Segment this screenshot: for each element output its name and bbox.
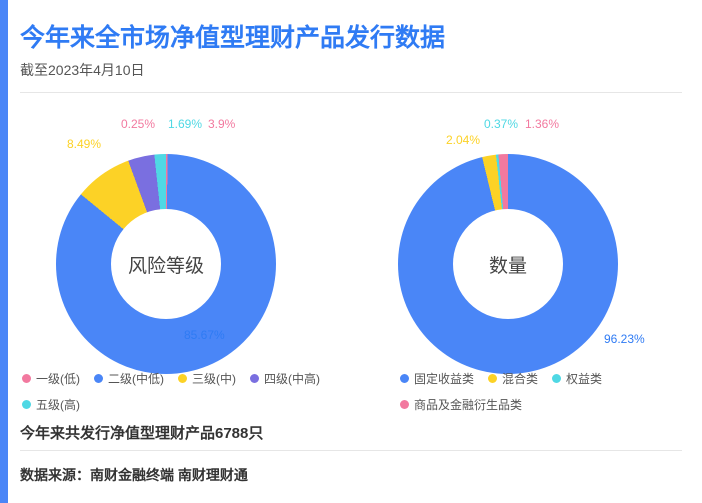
legend-label-level5: 五级(高) bbox=[36, 396, 80, 413]
value-label-fixed-income: 96.23% bbox=[604, 332, 645, 346]
charts-container: 风险等级 0.25% 1.69% 3.9% 8.49% 85.67% 数量 0.… bbox=[0, 96, 702, 376]
legend-swatch-level1 bbox=[22, 374, 31, 383]
legend-swatch-level3 bbox=[178, 374, 187, 383]
legend-label-level4: 四级(中高) bbox=[264, 370, 320, 387]
legend-item-mixed[interactable]: 混合类 bbox=[488, 370, 538, 387]
legend-item-equity[interactable]: 权益类 bbox=[552, 370, 602, 387]
footer-note: 今年来共发行净值型理财产品6788只 bbox=[20, 422, 263, 443]
legend-swatch-level5 bbox=[22, 400, 31, 409]
data-source: 数据来源：南财金融终端 南财理财通 bbox=[20, 465, 248, 485]
value-label-level4: 3.9% bbox=[208, 117, 235, 131]
value-label-level1: 0.25% bbox=[121, 117, 155, 131]
legend-label-equity: 权益类 bbox=[566, 370, 602, 387]
donut-chart-quantity[interactable]: 数量 bbox=[398, 154, 618, 374]
legend-swatch-equity bbox=[552, 374, 561, 383]
legend-label-level3: 三级(中) bbox=[192, 370, 236, 387]
legend-label-fixed-income: 固定收益类 bbox=[414, 370, 474, 387]
legend-swatch-fixed-income bbox=[400, 374, 409, 383]
legend-risk-level: 一级(低) 二级(中低) 三级(中) 四级(中高) 五级(高) bbox=[22, 370, 342, 422]
legend-item-level2[interactable]: 二级(中低) bbox=[94, 370, 164, 387]
legend-item-level1[interactable]: 一级(低) bbox=[22, 370, 80, 387]
legend-quantity: 固定收益类 混合类 权益类 商品及金融衍生品类 bbox=[400, 370, 690, 422]
donut-center-label-quantity: 数量 bbox=[453, 209, 563, 319]
legend-label-level1: 一级(低) bbox=[36, 370, 80, 387]
donut-center-label-risk-level: 风险等级 bbox=[111, 209, 221, 319]
value-label-mixed: 2.04% bbox=[446, 133, 480, 147]
value-label-equity: 0.37% bbox=[484, 117, 518, 131]
legend-label-level2: 二级(中低) bbox=[108, 370, 164, 387]
legend-item-fixed-income[interactable]: 固定收益类 bbox=[400, 370, 474, 387]
donut-chart-risk-level[interactable]: 风险等级 bbox=[56, 154, 276, 374]
value-label-commodity: 1.36% bbox=[525, 117, 559, 131]
legend-item-commodity[interactable]: 商品及金融衍生品类 bbox=[400, 396, 522, 413]
value-label-level3: 8.49% bbox=[67, 137, 101, 151]
legend-swatch-commodity bbox=[400, 400, 409, 409]
page-title: 今年来全市场净值型理财产品发行数据 bbox=[20, 18, 445, 54]
value-label-level2: 85.67% bbox=[184, 328, 225, 342]
divider-bottom bbox=[20, 450, 682, 451]
legend-swatch-level2 bbox=[94, 374, 103, 383]
legend-label-commodity: 商品及金融衍生品类 bbox=[414, 396, 522, 413]
page-subtitle: 截至2023年4月10日 bbox=[20, 60, 145, 80]
divider-top bbox=[20, 92, 682, 93]
value-label-level5: 1.69% bbox=[168, 117, 202, 131]
legend-item-level3[interactable]: 三级(中) bbox=[178, 370, 236, 387]
legend-item-level4[interactable]: 四级(中高) bbox=[250, 370, 320, 387]
legend-swatch-mixed bbox=[488, 374, 497, 383]
legend-swatch-level4 bbox=[250, 374, 259, 383]
legend-item-level5[interactable]: 五级(高) bbox=[22, 396, 80, 413]
legend-label-mixed: 混合类 bbox=[502, 370, 538, 387]
